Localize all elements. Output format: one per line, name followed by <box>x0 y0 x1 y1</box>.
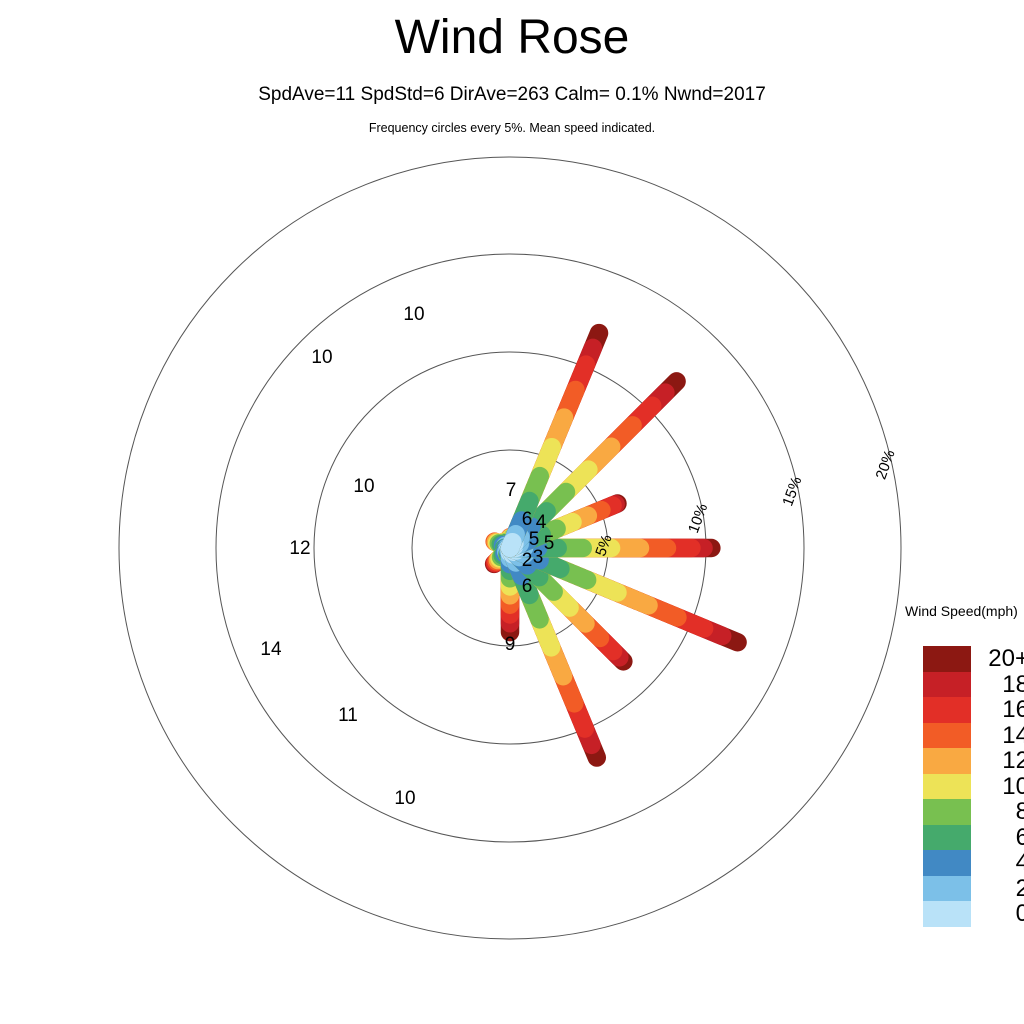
legend-row[interactable]: 10 <box>923 774 1024 800</box>
legend-label: 6 <box>971 825 1024 851</box>
legend-row[interactable]: 16 <box>923 697 1024 723</box>
petal-mean-speed-label: 10 <box>403 304 424 325</box>
legend-row[interactable]: 0 <box>923 901 1024 927</box>
petal-mean-speed-label: 7 <box>506 480 517 501</box>
legend-swatch <box>923 723 971 749</box>
legend-swatch <box>923 876 971 902</box>
petal-mean-speed-label: 10 <box>394 788 415 809</box>
legend-label: 0 <box>971 901 1024 927</box>
legend-row[interactable]: 6 <box>923 825 1024 851</box>
ring-label: 15% <box>779 474 805 508</box>
legend-swatch <box>923 748 971 774</box>
legend-label: 16 <box>971 697 1024 723</box>
legend-label: 4 <box>971 850 1024 876</box>
petal-mean-speed-label: 9 <box>505 634 516 655</box>
petal-mean-speed-label: 10 <box>353 476 374 497</box>
ring-label: 10% <box>685 501 711 535</box>
wind-rose-plot[interactable]: 5%10%15%20% 76455236910111412101010 <box>0 0 1024 1024</box>
petal-mean-speed-label: 12 <box>289 538 310 559</box>
legend-swatch <box>923 799 971 825</box>
wind-speed-legend[interactable]: 20+181614121086420 <box>923 646 1024 927</box>
wind-rose-page: Wind Rose SpdAve=11 SpdStd=6 DirAve=263 … <box>0 0 1024 1024</box>
legend-swatch <box>923 850 971 876</box>
legend-swatch <box>923 697 971 723</box>
legend-label: 18 <box>971 672 1024 698</box>
legend-swatch <box>923 646 971 672</box>
legend-row[interactable]: 8 <box>923 799 1024 825</box>
petal-mean-speed-label: 5 <box>544 533 555 554</box>
legend-swatch <box>923 901 971 927</box>
legend-label: 14 <box>971 723 1024 749</box>
legend-row[interactable]: 4 <box>923 850 1024 876</box>
legend-row[interactable]: 18 <box>923 672 1024 698</box>
legend-row[interactable]: 14 <box>923 723 1024 749</box>
legend-swatch <box>923 774 971 800</box>
legend-title: Wind Speed(mph) <box>905 603 1018 619</box>
legend-label: 2 <box>971 876 1024 902</box>
legend-label: 10 <box>971 774 1024 800</box>
petal-mean-speed-label: 6 <box>522 509 533 530</box>
legend-swatch <box>923 672 971 698</box>
legend-label: 8 <box>971 799 1024 825</box>
legend-row[interactable]: 2 <box>923 876 1024 902</box>
petal-mean-speed-label: 14 <box>260 639 282 660</box>
legend-row[interactable]: 20+ <box>923 646 1024 672</box>
legend-label: 12 <box>971 748 1024 774</box>
petal-mean-speed-label: 3 <box>533 547 544 568</box>
petal-mean-speed-label: 10 <box>311 347 332 368</box>
petal-mean-speed-label: 2 <box>522 550 533 571</box>
petal-mean-speed-label: 6 <box>522 576 533 597</box>
legend-swatch <box>923 825 971 851</box>
legend-row[interactable]: 12 <box>923 748 1024 774</box>
petal-mean-speed-label: 11 <box>338 705 358 726</box>
legend-label: 20+ <box>971 646 1024 672</box>
petal-segment <box>510 542 512 548</box>
